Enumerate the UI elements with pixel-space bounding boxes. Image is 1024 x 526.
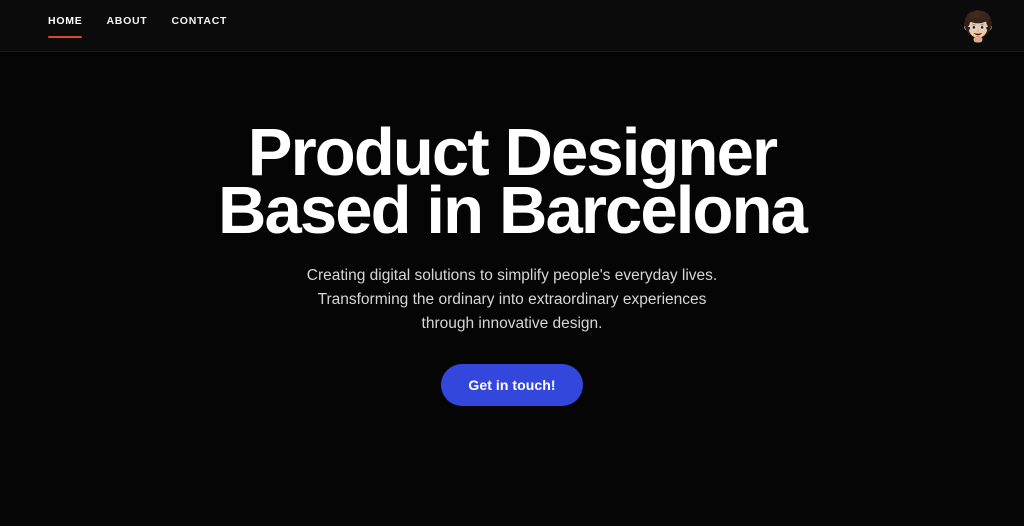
site-header: HOME ABOUT CONTACT <box>0 0 1024 52</box>
hero-subtitle-line-2: Transforming the ordinary into extraordi… <box>307 288 717 312</box>
nav-item-about-label: ABOUT <box>106 15 147 27</box>
page-root: HOME ABOUT CONTACT <box>0 0 1024 526</box>
cta-container: Get in touch! <box>0 364 1024 406</box>
nav-item-contact-label: CONTACT <box>171 15 227 27</box>
page-title-line-2: Based in Barcelona <box>218 182 806 240</box>
hero-subtitle-line-1: Creating digital solutions to simplify p… <box>307 264 717 288</box>
nav-item-home-label: HOME <box>48 15 82 27</box>
page-title: Product Designer Based in Barcelona <box>218 124 806 240</box>
nav-item-about[interactable]: ABOUT <box>106 14 147 38</box>
nav-item-home[interactable]: HOME <box>48 14 82 38</box>
get-in-touch-button[interactable]: Get in touch! <box>441 364 582 406</box>
hero-subtitle: Creating digital solutions to simplify p… <box>307 264 717 336</box>
memoji-avatar-icon[interactable] <box>960 8 996 44</box>
main-navigation: HOME ABOUT CONTACT <box>48 10 227 42</box>
hero-section: Product Designer Based in Barcelona Crea… <box>0 52 1024 526</box>
nav-item-contact[interactable]: CONTACT <box>171 14 227 38</box>
active-nav-underline <box>48 36 82 38</box>
hero-subtitle-line-3: through innovative design. <box>307 312 717 336</box>
